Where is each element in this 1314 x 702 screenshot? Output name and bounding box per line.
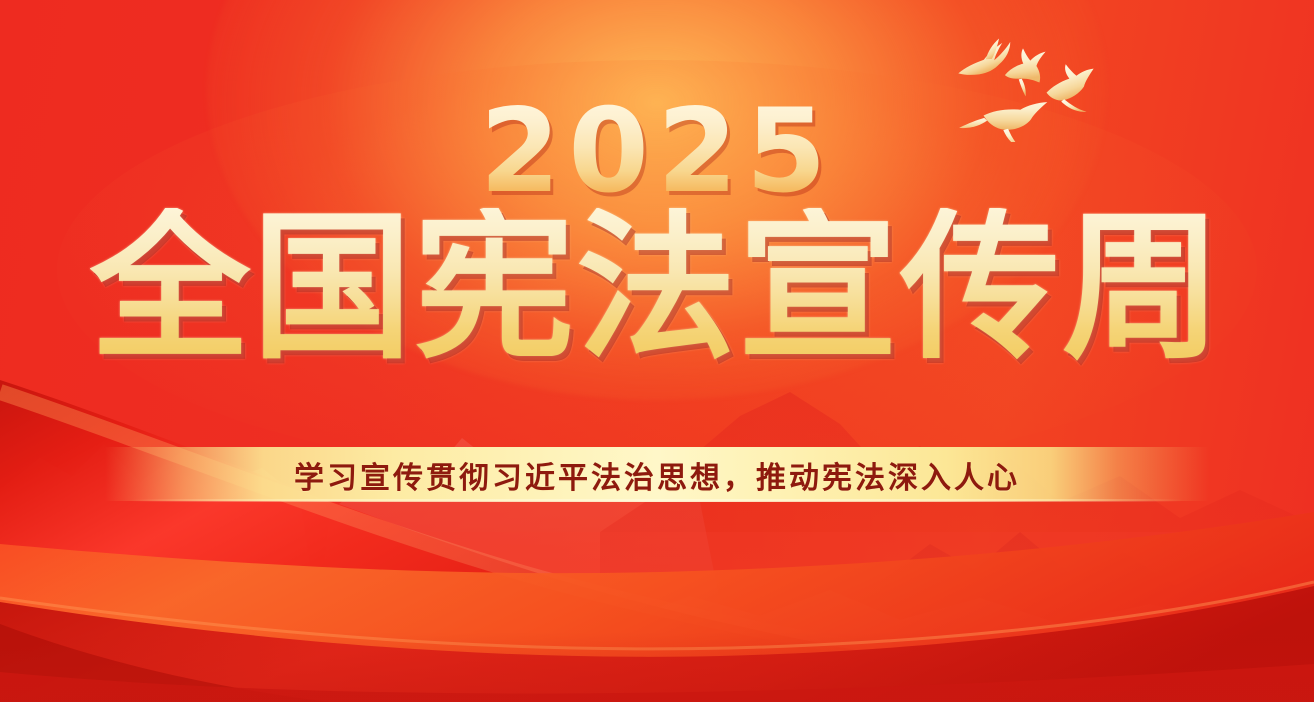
- subtitle-band-edge: [0, 499, 1314, 502]
- silk-ribbon-icon: [0, 372, 1314, 702]
- page-title: 全国宪法宣传周: [0, 208, 1314, 368]
- poster-canvas: 2025 全国宪法宣传周 学习宣传贯彻习近平法治思想，推动宪法深入人心: [0, 0, 1314, 702]
- year-heading: 2025: [0, 94, 1314, 210]
- year-text: 2025: [480, 94, 835, 210]
- subtitle-text: 学习宣传贯彻习近平法治思想，推动宪法深入人心: [294, 453, 1020, 497]
- subtitle-container: 学习宣传贯彻习近平法治思想，推动宪法深入人心: [0, 451, 1314, 499]
- main-title-text: 全国宪法宣传周: [90, 208, 1224, 368]
